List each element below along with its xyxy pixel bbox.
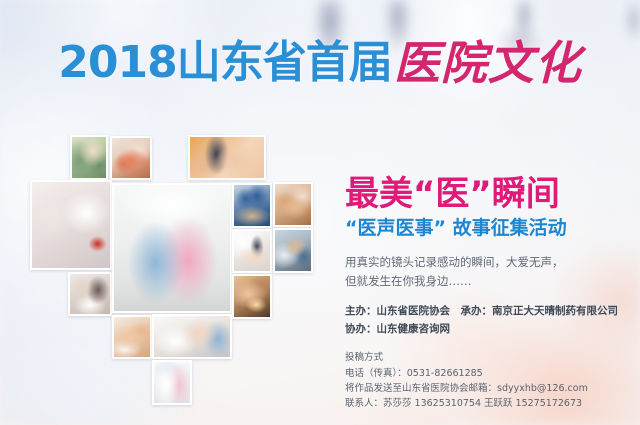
photo-consultation-image xyxy=(70,274,110,314)
title-blue-part: 2018山东省首届 xyxy=(58,41,391,85)
main-slogan: 最美“医”瞬间 xyxy=(345,176,633,213)
submission-contacts: 联系人：苏莎莎 13625310754 王跃跃 15275172673 xyxy=(345,396,633,411)
photo-leg-care-image xyxy=(114,317,150,357)
photo-doctor-with-elder-image xyxy=(154,362,190,403)
photo-consultation xyxy=(68,272,112,316)
photo-leg-care xyxy=(112,315,152,359)
title-pink-part: 医院文化 xyxy=(394,40,582,86)
submission-block: 投稿方式 电话（传真）：0531-82661285 将作品发送至山东省医院协会邮… xyxy=(345,350,633,412)
poster-title: 2018山东省首届 医院文化 xyxy=(0,34,640,92)
photo-stethoscope-ecg-image xyxy=(32,182,110,268)
photo-elderly-hands-image xyxy=(275,184,311,225)
photo-newborn xyxy=(110,136,152,180)
photo-wrist-care xyxy=(152,314,232,359)
description-line-1: 用真实的镜头记录感动的瞬间，大爱无声， xyxy=(345,253,633,272)
photo-collage xyxy=(0,100,340,425)
photo-writing-record-image xyxy=(234,231,270,271)
photo-surgical-hands-image xyxy=(234,276,270,317)
sub-slogan: “医声医事” 故事征集活动 xyxy=(345,218,633,239)
description-line-2: 但就发生在你我身边…… xyxy=(345,272,633,291)
photo-ward-wheelchair xyxy=(112,183,232,313)
photo-operating-team xyxy=(232,183,272,228)
photo-wrist-care-image xyxy=(154,316,230,357)
photo-newborn-image xyxy=(112,138,150,178)
submission-phone: 电话（传真）：0531-82661285 xyxy=(345,366,633,381)
photo-icu-monitoring-image xyxy=(275,230,311,271)
organizer-line-1: 主办：山东省医院协会 承办：南京正大天晴制药有限公司 xyxy=(345,302,633,320)
photo-elderly-hands xyxy=(273,182,313,227)
photo-icu-monitoring xyxy=(273,228,313,273)
info-column: 最美“医”瞬间 “医声医事” 故事征集活动 用真实的镜头记录感动的瞬间，大爱无声… xyxy=(345,176,633,412)
photo-surgery-team xyxy=(70,135,108,180)
photo-hand-examination-image xyxy=(190,137,264,178)
photo-stethoscope-ecg xyxy=(30,180,112,270)
submission-heading: 投稿方式 xyxy=(345,350,633,365)
organizer-line-2: 协办：山东健康咨询网 xyxy=(345,320,633,338)
poster-canvas: 2018山东省首届 医院文化 最美“医”瞬间 “医声医事” 故事征集活动 用真实… xyxy=(0,0,640,425)
photo-operating-team-image xyxy=(234,185,270,226)
organizer-block: 主办：山东省医院协会 承办：南京正大天晴制药有限公司 协办：山东健康咨询网 xyxy=(345,302,633,339)
photo-writing-record xyxy=(232,229,272,273)
submission-email: 将作品发送至山东省医院协会邮箱：sdyyxhb@126.com xyxy=(345,381,633,396)
photo-surgical-hands xyxy=(232,274,272,319)
photo-surgery-team-image xyxy=(72,137,106,178)
photo-ward-wheelchair-image xyxy=(114,185,230,311)
photo-hand-examination xyxy=(188,135,266,180)
photo-doctor-with-elder xyxy=(152,360,192,405)
description-block: 用真实的镜头记录感动的瞬间，大爱无声， 但就发生在你我身边…… xyxy=(345,253,633,291)
